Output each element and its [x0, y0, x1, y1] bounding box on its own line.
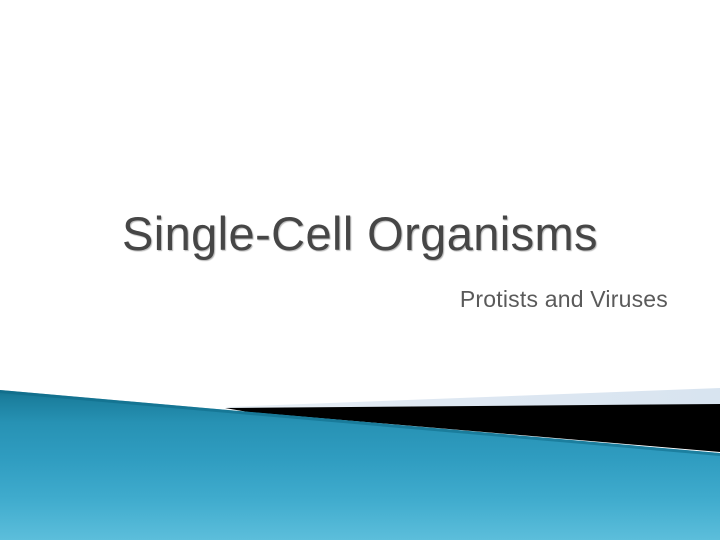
- banner-light-blue-wedge: [225, 388, 720, 409]
- title-placeholder[interactable]: Single-Cell Organisms: [40, 206, 680, 261]
- banner-teal-edge-highlight: [0, 390, 720, 456]
- angled-banner-decoration: [0, 0, 720, 540]
- subtitle-placeholder[interactable]: Protists and Viruses: [40, 286, 668, 314]
- page-subtitle: Protists and Viruses: [40, 286, 668, 314]
- banner-black-wedge: [225, 404, 720, 452]
- page-title: Single-Cell Organisms: [40, 206, 680, 261]
- banner-teal-wedge: [0, 390, 720, 540]
- presentation-slide: Single-Cell Organisms Protists and Virus…: [0, 0, 720, 540]
